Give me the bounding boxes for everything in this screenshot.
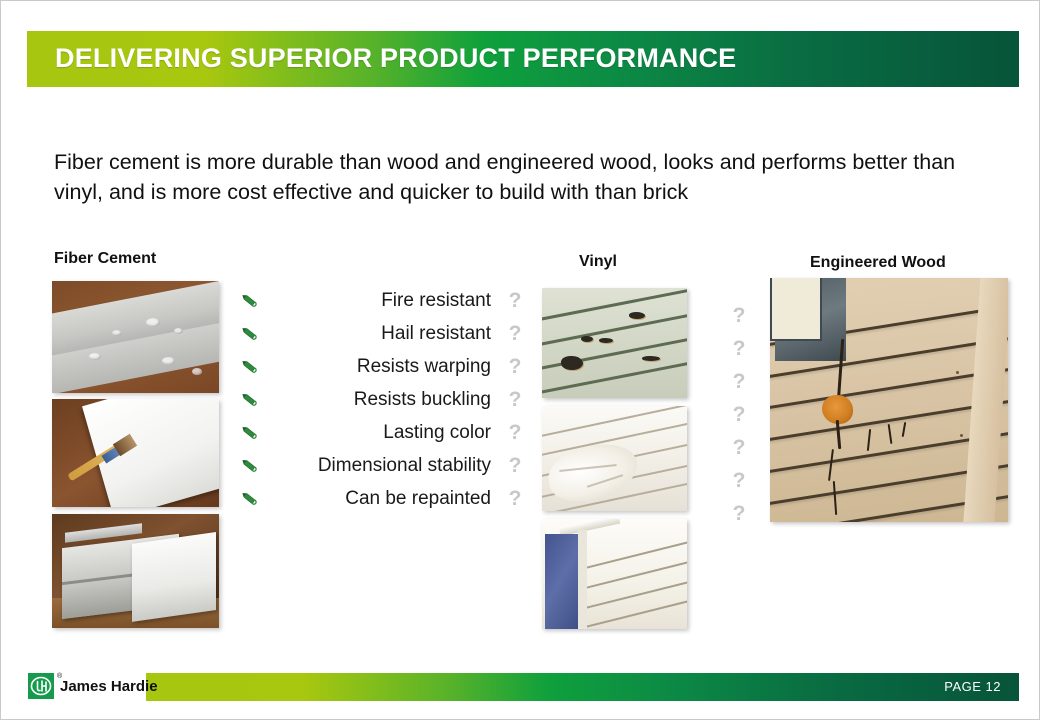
green-pencil-icon [239,290,261,312]
feature-row: Can be repainted [239,482,529,515]
feature-label: Can be repainted [261,488,529,510]
engineered-wood-status-unknown: ? [727,431,751,464]
feature-row: Dimensional stability [239,449,529,482]
vinyl-buckled-siding-photo [542,406,687,511]
green-pencil-icon [239,422,261,444]
vinyl-status-unknown: ? [503,284,527,317]
hail-damage-hole [599,338,613,343]
feature-label: Resists warping [261,356,529,378]
vinyl-status-column: ? ? ? ? ? ? ? [503,284,527,515]
engineered-wood-cracked-siding-photo [770,278,1008,522]
vinyl-status-unknown: ? [503,416,527,449]
green-pencil-icon [239,356,261,378]
engineered-wood-status-unknown: ? [727,332,751,365]
engineered-wood-status-unknown: ? [727,497,751,530]
vinyl-status-unknown: ? [503,350,527,383]
feature-row: Hail resistant [239,317,529,350]
jh-monogram-icon [28,673,54,699]
feature-row: Resists buckling [239,383,529,416]
page-number-label: PAGE 12 [944,679,1001,694]
vinyl-status-unknown: ? [503,449,527,482]
water-drop [174,328,183,334]
vinyl-warped-window-siding-photo [542,519,687,629]
column-header-engineered-wood: Engineered Wood [810,254,946,272]
plank-panel-front [132,532,216,621]
hail-damage-hole [561,356,583,370]
nail-head [956,371,959,374]
feature-label: Hail resistant [261,323,529,345]
engineered-wood-status-column: ? ? ? ? ? ? ? [727,299,751,530]
vinyl-status-unknown: ? [503,317,527,350]
vinyl-status-unknown: ? [503,383,527,416]
fiber-cement-planks-photo [52,514,219,628]
page-title: DELIVERING SUPERIOR PRODUCT PERFORMANCE [55,43,736,74]
vinyl-hail-damage-photo [542,288,687,398]
engineered-wood-status-unknown: ? [727,398,751,431]
feature-list: Fire resistant Hail resistant Resist [239,284,529,515]
slide-header-bar: DELIVERING SUPERIOR PRODUCT PERFORMANCE [27,31,1019,87]
feature-label: Fire resistant [261,290,529,312]
intro-paragraph: Fiber cement is more durable than wood a… [54,147,974,207]
brand-logo: ® James Hardie [28,673,158,699]
green-pencil-icon [239,389,261,411]
james-hardie-logo-icon: ® [28,673,54,699]
fiber-cement-painting-board-photo [52,399,219,507]
water-drop [146,318,160,327]
feature-row: Fire resistant [239,284,529,317]
fiber-cement-water-beading-photo [52,281,219,393]
feature-label: Resists buckling [261,389,529,411]
vinyl-status-unknown: ? [503,482,527,515]
feature-row: Resists warping [239,350,529,383]
feature-label: Dimensional stability [261,455,529,477]
green-pencil-icon [239,323,261,345]
engineered-wood-status-unknown: ? [727,299,751,332]
green-pencil-icon [239,488,261,510]
column-header-fiber-cement: Fiber Cement [54,250,156,268]
engineered-wood-status-unknown: ? [727,464,751,497]
brand-name: James Hardie [60,678,158,695]
slide: DELIVERING SUPERIOR PRODUCT PERFORMANCE … [0,0,1040,720]
water-drop [89,353,101,360]
window-trim-board [578,530,587,629]
green-pencil-icon [239,455,261,477]
engineered-wood-status-unknown: ? [727,365,751,398]
feature-label: Lasting color [261,422,529,444]
slide-footer-bar: PAGE 12 [146,673,1019,701]
window-pane [770,278,822,341]
feature-row: Lasting color [239,416,529,449]
registered-trademark-symbol: ® [57,673,62,680]
column-header-vinyl: Vinyl [579,253,617,271]
